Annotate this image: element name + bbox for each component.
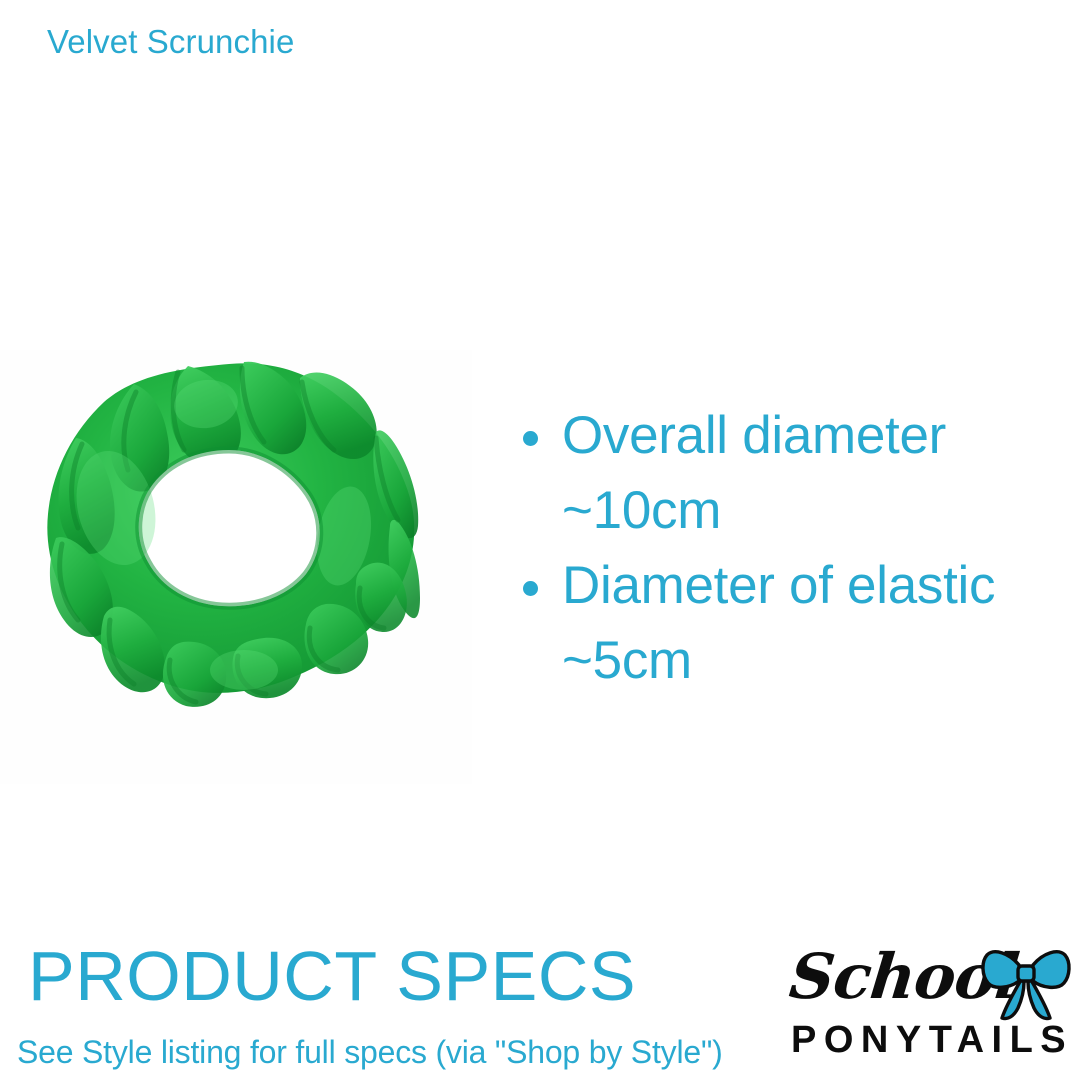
footer-subtitle: See Style listing for full specs (via "S… xyxy=(17,1032,723,1072)
brand-logo: School PONYTAILS xyxy=(788,940,1070,1060)
footer-heading: PRODUCT SPECS xyxy=(28,936,636,1016)
scrunchie-illustration xyxy=(38,358,420,710)
logo-wordmark-text: PONYTAILS xyxy=(791,1018,1073,1062)
product-specs-list: Overall diameter ~10cm Diameter of elast… xyxy=(512,398,1072,698)
bow-icon xyxy=(980,944,1072,1022)
spec-text: Overall diameter ~10cm xyxy=(562,406,946,540)
list-item: Diameter of elastic ~5cm xyxy=(512,548,1072,698)
bullet-icon xyxy=(523,581,538,596)
product-photo xyxy=(0,350,472,784)
list-item: Overall diameter ~10cm xyxy=(512,398,1072,548)
spec-text: Diameter of elastic ~5cm xyxy=(562,556,995,690)
product-title: Velvet Scrunchie xyxy=(47,22,294,62)
bullet-icon xyxy=(523,431,538,446)
